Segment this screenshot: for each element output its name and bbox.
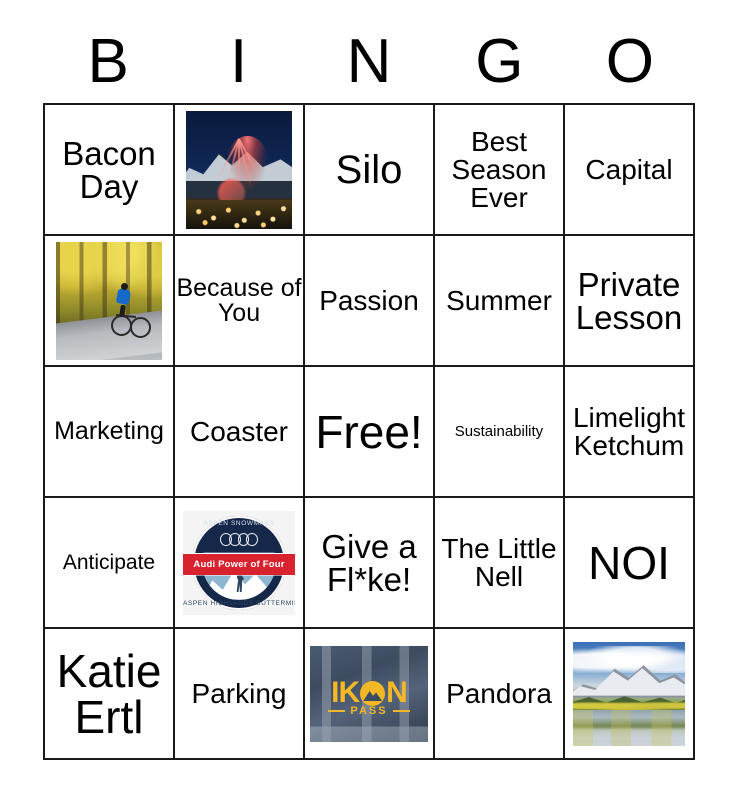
cyclist-icon xyxy=(56,242,162,360)
bingo-header: B I N G O xyxy=(43,26,695,98)
cell-label: Summer xyxy=(435,287,563,315)
cell-label: Capital xyxy=(565,156,693,184)
audi-power-of-four-image: ASPEN SNOWMASS Audi Power of Four ASPEN … xyxy=(183,511,295,615)
cell-label: Marketing xyxy=(45,419,173,444)
bingo-cell[interactable] xyxy=(175,105,305,236)
bingo-cell[interactable]: Passion xyxy=(305,236,435,367)
maroon-bells-icon xyxy=(573,642,685,746)
bingo-cell[interactable]: NOI xyxy=(565,498,695,629)
cyclist-autumn-image xyxy=(56,242,162,360)
header-letter-o: O xyxy=(565,26,695,98)
badge-banner-text: Audi Power of Four xyxy=(183,553,295,576)
bingo-cell[interactable]: Marketing xyxy=(45,367,175,498)
cell-label: Sustainability xyxy=(435,424,563,439)
ikon-pass-logo-icon: IK N PASS xyxy=(310,646,428,742)
ikon-wordmark: IK N xyxy=(310,678,428,708)
bingo-cell[interactable]: Sustainability xyxy=(435,367,565,498)
cell-label: Anticipate xyxy=(45,552,173,573)
audi-rings-icon xyxy=(220,533,258,545)
cell-label: Parking xyxy=(175,680,303,708)
header-letter-i: I xyxy=(173,26,303,98)
bingo-cell[interactable] xyxy=(565,629,695,760)
pass-label: PASS xyxy=(350,705,387,717)
bingo-cell[interactable]: Coaster xyxy=(175,367,305,498)
cell-label: The Little Nell xyxy=(435,535,563,591)
cell-label: Passion xyxy=(305,287,433,315)
bingo-cell[interactable]: Parking xyxy=(175,629,305,760)
audi-power-of-four-logo-icon: ASPEN SNOWMASS Audi Power of Four ASPEN … xyxy=(183,511,295,615)
bingo-cell[interactable]: ASPEN SNOWMASS Audi Power of Four ASPEN … xyxy=(175,498,305,629)
ikon-word-end: N xyxy=(386,678,407,708)
cell-label: Because of You xyxy=(175,276,303,326)
bingo-cell[interactable]: Because of You xyxy=(175,236,305,367)
cell-label: Free! xyxy=(305,409,433,455)
ikon-pass-subtitle: PASS xyxy=(310,705,428,717)
cell-label: NOI xyxy=(565,540,693,586)
mountain-circle-icon xyxy=(360,681,385,706)
badge-arc-top-text: ASPEN SNOWMASS xyxy=(183,520,295,527)
header-letter-n: N xyxy=(304,26,434,98)
bingo-cell[interactable]: Best Season Ever xyxy=(435,105,565,236)
badge-arc-bottom-text: ASPEN HIGHLANDS BUTTERMILK xyxy=(183,600,295,607)
bingo-cell[interactable]: Summer xyxy=(435,236,565,367)
cell-label: Limelight Ketchum xyxy=(565,404,693,460)
cell-label: Bacon Day xyxy=(45,137,173,203)
bingo-cell[interactable]: Capital xyxy=(565,105,695,236)
bingo-cell[interactable]: Bacon Day xyxy=(45,105,175,236)
cell-label: Private Lesson xyxy=(565,268,693,334)
maroon-bells-image xyxy=(573,642,685,746)
bingo-cell-free-space[interactable]: Free! xyxy=(305,367,435,498)
bingo-cell[interactable]: Give a Fl*ke! xyxy=(305,498,435,629)
bingo-cell[interactable]: Limelight Ketchum xyxy=(565,367,695,498)
lake-reflection xyxy=(573,710,685,745)
bingo-cell[interactable]: Katie Ertl xyxy=(45,629,175,760)
ikon-pass-image: IK N PASS xyxy=(310,646,428,742)
bicycle-wheel xyxy=(111,315,132,336)
header-letter-b: B xyxy=(43,26,173,98)
bingo-cell[interactable]: Anticipate xyxy=(45,498,175,629)
fireworks-mountain-image xyxy=(186,111,292,229)
cell-label: Silo xyxy=(305,150,433,190)
header-letter-g: G xyxy=(434,26,564,98)
cell-label: Best Season Ever xyxy=(435,128,563,212)
bingo-cell[interactable]: IK N PASS xyxy=(305,629,435,760)
bingo-cell[interactable]: Pandora xyxy=(435,629,565,760)
dash-left xyxy=(328,710,345,713)
dash-right xyxy=(393,710,410,713)
cell-label: Katie Ertl xyxy=(45,648,173,740)
rider-head xyxy=(121,283,128,290)
cell-label: Pandora xyxy=(435,680,563,708)
cell-label: Give a Fl*ke! xyxy=(305,530,433,596)
bingo-cell[interactable]: Silo xyxy=(305,105,435,236)
clouds-shape xyxy=(573,646,685,673)
bingo-grid: Bacon Day Silo xyxy=(43,103,695,760)
fireworks-mountain-icon xyxy=(186,111,292,229)
bingo-cell[interactable] xyxy=(45,236,175,367)
bingo-card: B I N G O Bacon Day xyxy=(0,0,736,800)
bingo-cell[interactable]: The Little Nell xyxy=(435,498,565,629)
town-lights xyxy=(186,200,292,228)
audi-ring xyxy=(246,533,258,546)
cell-label: Coaster xyxy=(175,418,303,446)
ikon-word-start: IK xyxy=(331,678,359,708)
bingo-cell[interactable]: Private Lesson xyxy=(565,236,695,367)
